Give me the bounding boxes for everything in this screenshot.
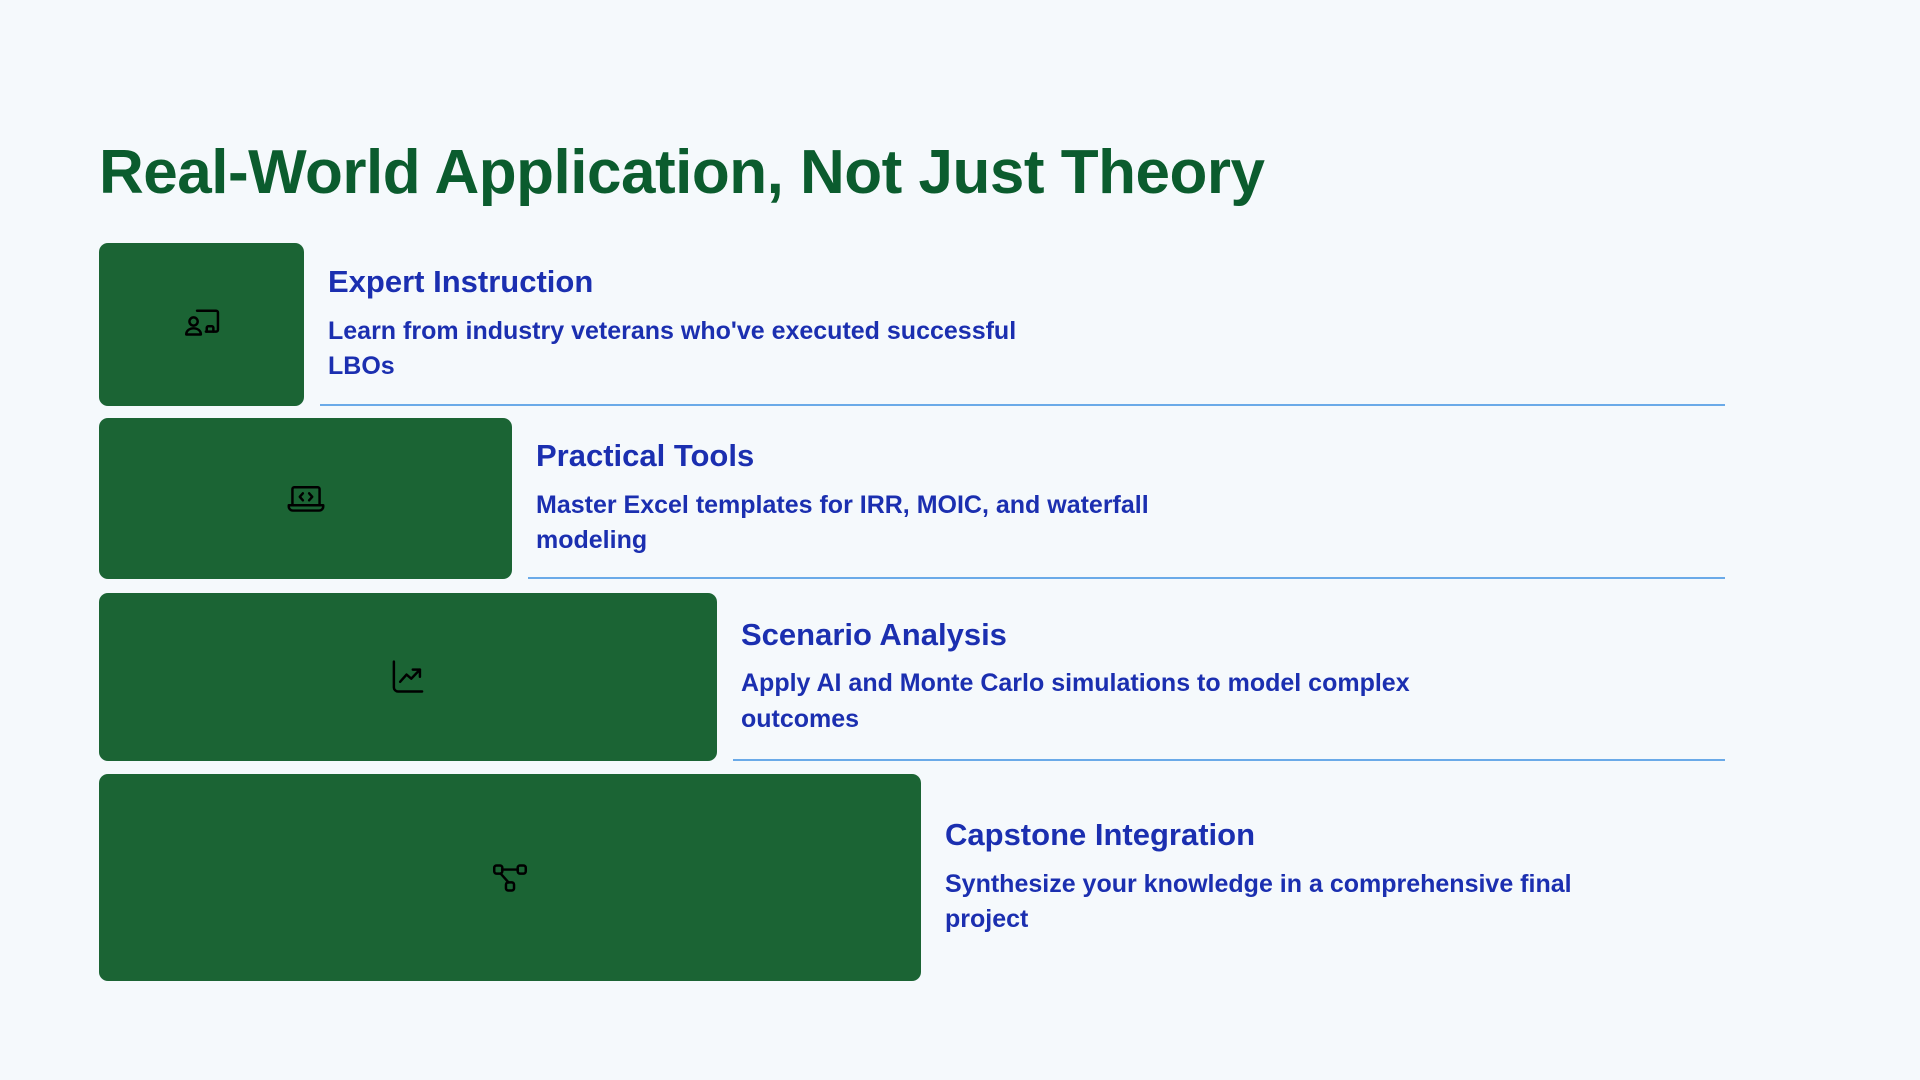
infographic-page: Real-World Application, Not Just Theory … [0,0,1920,1080]
list-item: Capstone Integration Synthesize your kno… [0,774,1920,981]
feature-icon-block [99,593,717,761]
list-item: Practical Tools Master Excel templates f… [0,418,1920,579]
feature-text: Practical Tools Master Excel templates f… [512,418,1920,579]
feature-text: Capstone Integration Synthesize your kno… [921,774,1920,981]
feature-description: Master Excel templates for IRR, MOIC, an… [536,488,1236,559]
feature-icon-block [99,774,921,981]
feature-title: Expert Instruction [328,264,1880,300]
feature-title: Scenario Analysis [741,617,1880,653]
feature-list: Expert Instruction Learn from industry v… [0,243,1920,981]
laptop-code-icon [284,477,328,521]
feature-title: Practical Tools [536,438,1880,474]
feature-icon-block [99,418,512,579]
feature-description: Apply AI and Monte Carlo simulations to … [741,666,1441,737]
list-item: Scenario Analysis Apply AI and Monte Car… [0,593,1920,761]
feature-text: Scenario Analysis Apply AI and Monte Car… [717,593,1920,761]
trending-chart-icon [386,655,430,699]
page-title: Real-World Application, Not Just Theory [99,138,1264,207]
row-divider [320,404,1725,406]
feature-description: Learn from industry veterans who've exec… [328,314,1028,385]
feature-description: Synthesize your knowledge in a comprehen… [945,867,1645,938]
row-divider [733,759,1725,761]
feature-title: Capstone Integration [945,817,1880,853]
list-item: Expert Instruction Learn from industry v… [0,243,1920,406]
feature-text: Expert Instruction Learn from industry v… [304,243,1920,406]
row-divider [528,577,1725,579]
network-nodes-icon [488,856,532,900]
feature-icon-block [99,243,304,406]
presenter-screen-icon [180,303,224,347]
